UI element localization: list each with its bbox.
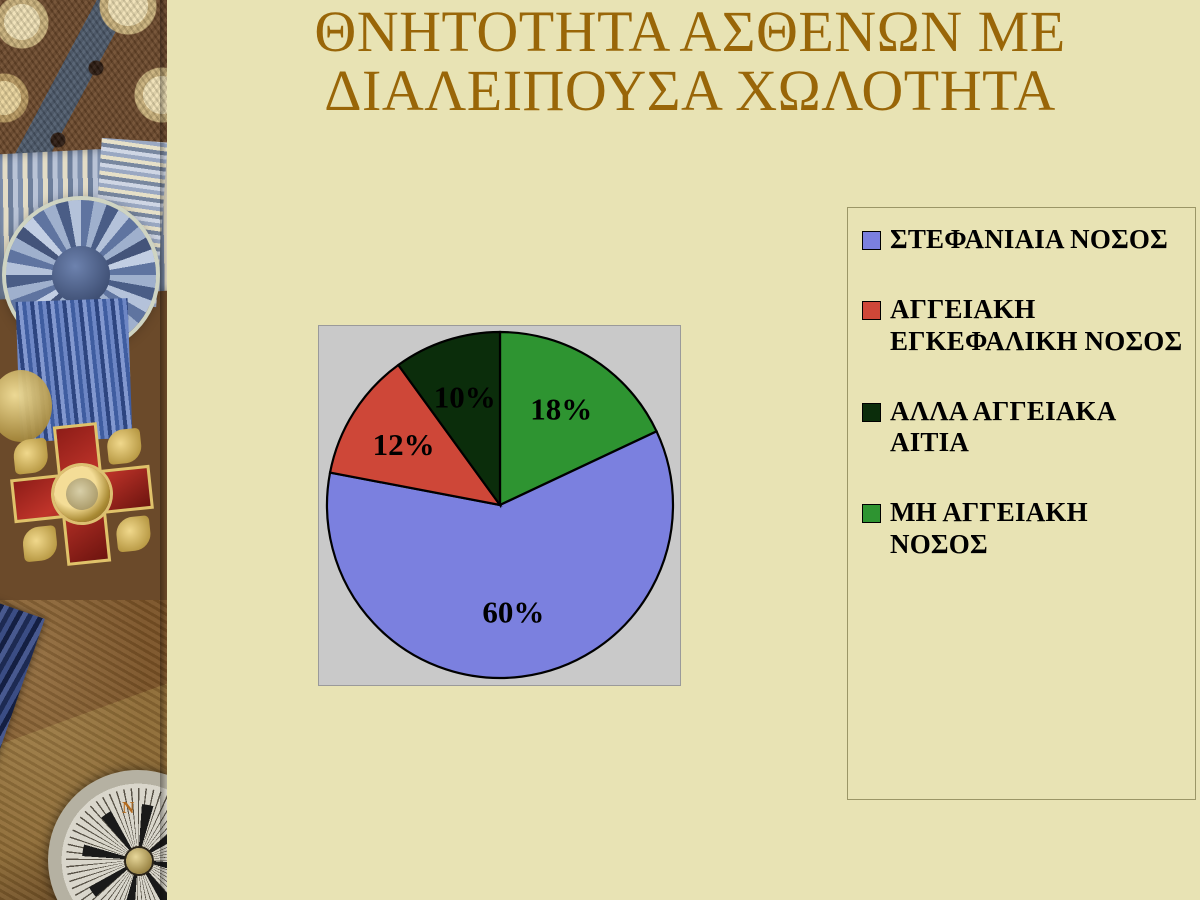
legend-item-label: ΑΛΛΑ ΑΓΓΕΙΑΚΑ ΑΙΤΙΑ — [890, 396, 1185, 460]
pie-data-label: 18% — [530, 392, 592, 427]
pie-data-label: 12% — [373, 427, 435, 462]
legend-item-stefaniaia-nosos[interactable]: ΣΤΕΦΑΝΙΑΙΑ ΝΟΣΟΣ — [862, 224, 1185, 256]
legend-swatch-icon — [862, 403, 881, 422]
pie-data-label: 60% — [482, 594, 544, 629]
legend-swatch-icon — [862, 231, 881, 250]
chart-legend: ΣΤΕΦΑΝΙΑΙΑ ΝΟΣΟΣ ΑΓΓΕΙΑΚΗ ΕΓΚΕΦΑΛΙΚΗ ΝΟΣ… — [847, 207, 1196, 800]
pie-chart-svg: 18%60%12%10% — [319, 326, 680, 685]
cross-medal — [0, 410, 167, 630]
compass-north-label: N — [122, 798, 134, 818]
slide-title: ΘΝΗΤΟΤΗΤΑ ΑΣΘΕΝΩΝ ΜΕ ΔΙΑΛΕΙΠΟΥΣΑ ΧΩΛΟΤΗΤ… — [200, 2, 1180, 120]
legend-item-mi-aggeiaki-nosos[interactable]: ΜΗ ΑΓΓΕΙΑΚΗ ΝΟΣΟΣ — [862, 497, 1185, 561]
filigree-ornament — [106, 428, 143, 465]
legend-item-aggeiaki-egkefaliki-nosos[interactable]: ΑΓΓΕΙΑΚΗ ΕΓΚΕΦΑΛΙΚΗ ΝΟΣΟΣ — [862, 294, 1185, 358]
compass-hub — [126, 848, 152, 874]
legend-item-label: ΑΓΓΕΙΑΚΗ ΕΓΚΕΦΑΛΙΚΗ ΝΟΣΟΣ — [890, 294, 1185, 358]
pie-chart-plot-area: 18%60%12%10% — [318, 325, 681, 686]
filigree-ornament — [21, 525, 58, 562]
filigree-ornament — [115, 515, 152, 552]
legend-swatch-icon — [862, 504, 881, 523]
legend-swatch-icon — [862, 301, 881, 320]
decorative-image-strip: N — [0, 0, 167, 900]
pie-data-label: 10% — [434, 379, 496, 414]
legend-item-label: ΜΗ ΑΓΓΕΙΑΚΗ ΝΟΣΟΣ — [890, 497, 1185, 561]
legend-item-alla-aggeiaka-aitia[interactable]: ΑΛΛΑ ΑΓΓΕΙΑΚΑ ΑΙΤΙΑ — [862, 396, 1185, 460]
strip-edge-shadow — [160, 0, 167, 900]
legend-item-label: ΣΤΕΦΑΝΙΑΙΑ ΝΟΣΟΣ — [890, 224, 1168, 256]
filigree-ornament — [12, 437, 49, 474]
